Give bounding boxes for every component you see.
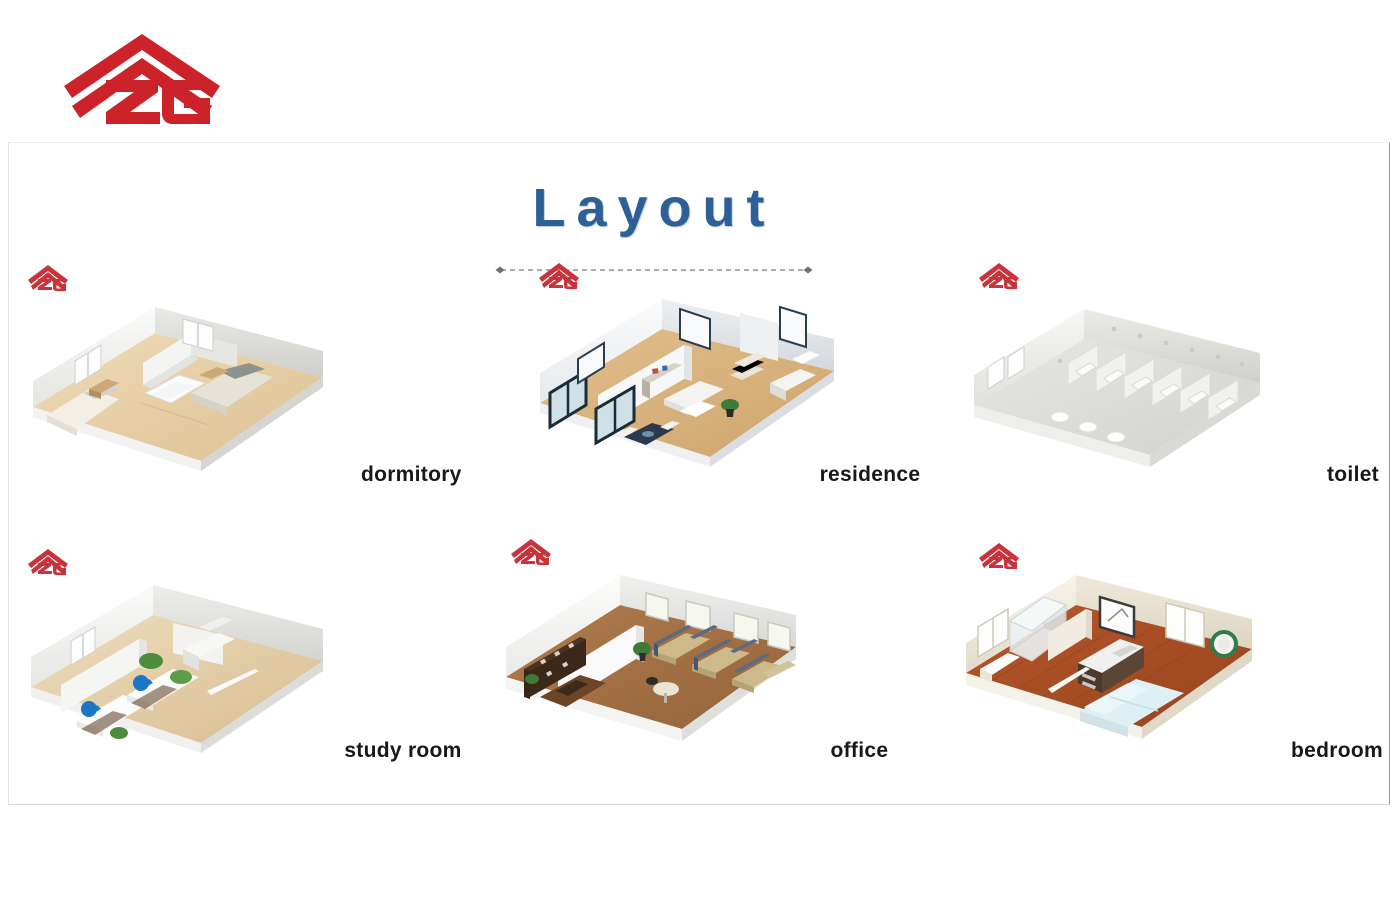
zg-house-logo-icon	[62, 28, 222, 128]
page-title: Layout	[9, 181, 1299, 235]
room-card-study-room[interactable]: study room	[9, 537, 470, 813]
brand-logo	[62, 28, 222, 128]
room-card-toilet[interactable]: toilet	[930, 261, 1391, 537]
isometric-office-render	[496, 565, 806, 751]
isometric-residence-render	[534, 287, 844, 473]
room-card-office[interactable]: office	[470, 537, 931, 813]
room-card-bedroom[interactable]: bedroom	[930, 537, 1391, 813]
isometric-dormitory-render	[23, 289, 333, 475]
room-label: toilet	[1327, 463, 1379, 487]
room-card-residence[interactable]: residence	[470, 261, 931, 537]
room-card-dormitory[interactable]: dormitory	[9, 261, 470, 537]
isometric-bedroom-render	[952, 565, 1262, 751]
room-label: office	[831, 739, 889, 763]
slide-content-frame: Layout	[8, 142, 1390, 805]
zg-house-badge-icon	[510, 537, 552, 567]
zg-house-badge-icon	[978, 261, 1020, 291]
room-label: dormitory	[361, 463, 462, 487]
isometric-study-room-render	[23, 573, 333, 759]
isometric-toilet-render	[964, 295, 1274, 481]
room-label: study room	[344, 739, 461, 763]
room-label: bedroom	[1291, 739, 1383, 763]
room-label: residence	[820, 463, 921, 487]
title-block: Layout	[9, 181, 1299, 235]
room-grid: dormitory	[9, 261, 1391, 813]
